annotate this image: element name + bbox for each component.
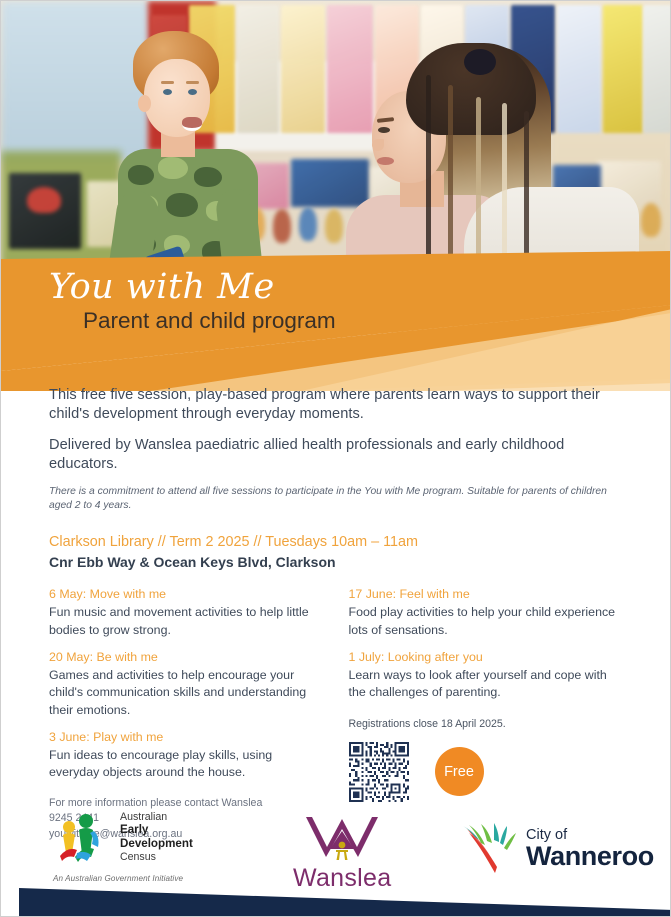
intro-fineprint: There is a commitment to attend all five… <box>49 485 624 513</box>
session-item: 17 June: Feel with me Food play activiti… <box>349 586 625 639</box>
session-title: 20 May: Be with me <box>49 649 325 667</box>
session-body: Fun music and movement activities to hel… <box>49 604 325 639</box>
aedc-figures-icon <box>53 811 111 869</box>
sessions-column-right: 17 June: Feel with me Food play activiti… <box>349 586 625 842</box>
title-banner: You with Me Parent and child program <box>1 251 671 391</box>
aedc-line-4: Census <box>120 851 193 863</box>
registration-qr-row: Free <box>349 742 625 802</box>
session-title: 17 June: Feel with me <box>349 586 625 604</box>
session-title: 6 May: Move with me <box>49 586 325 604</box>
session-item: 1 July: Looking after you Learn ways to … <box>349 649 625 702</box>
aedc-line-2: Early <box>120 823 148 836</box>
venue-schedule: Clarkson Library // Term 2 2025 // Tuesd… <box>49 533 624 552</box>
session-body: Games and activities to help encourage y… <box>49 667 325 719</box>
aedc-line-3: Development <box>120 837 193 850</box>
flyer-page: You with Me Parent and child program Thi… <box>0 0 671 917</box>
sessions-column-left: 6 May: Move with me Fun music and moveme… <box>49 586 325 842</box>
session-body: Learn ways to look after yourself and co… <box>349 667 625 702</box>
logo-wanneroo: City of Wanneroo <box>461 823 654 875</box>
registration-close-note: Registrations close 18 April 2025. <box>349 718 625 730</box>
session-item: 20 May: Be with me Games and activities … <box>49 649 325 719</box>
session-item: 6 May: Move with me Fun music and moveme… <box>49 586 325 639</box>
venue-block: Clarkson Library // Term 2 2025 // Tuesd… <box>49 533 624 573</box>
wanneroo-plume-icon <box>461 823 521 875</box>
wanneroo-line-1: City of <box>526 828 654 843</box>
intro-paragraph-1: This free five session, play-based progr… <box>49 386 624 425</box>
qr-code[interactable] <box>349 742 409 802</box>
session-title: 1 July: Looking after you <box>349 649 625 667</box>
banner-title: You with Me <box>49 269 336 306</box>
aedc-line-1: Australian <box>120 811 193 823</box>
session-item: 3 June: Play with me Fun ideas to encour… <box>49 729 325 782</box>
wanneroo-line-2: Wanneroo <box>526 843 654 870</box>
session-body: Fun ideas to encourage play skills, usin… <box>49 747 325 782</box>
footer-navy-bar <box>1 880 671 916</box>
content-area: This free five session, play-based progr… <box>1 386 671 842</box>
intro-paragraph-2: Delivered by Wanslea paediatric allied h… <box>49 436 624 475</box>
sessions-columns: 6 May: Move with me Fun music and moveme… <box>49 586 624 842</box>
session-title: 3 June: Play with me <box>49 729 325 747</box>
session-body: Food play activities to help your child … <box>349 604 625 639</box>
banner-text-block: You with Me Parent and child program <box>49 269 336 334</box>
logo-aedc: Australian Early Development Census An A… <box>53 811 193 883</box>
banner-subtitle: Parent and child program <box>83 308 336 334</box>
venue-address: Cnr Ebb Way & Ocean Keys Blvd, Clarkson <box>49 552 624 572</box>
free-badge: Free <box>435 747 484 796</box>
wanslea-w-icon <box>296 815 388 863</box>
